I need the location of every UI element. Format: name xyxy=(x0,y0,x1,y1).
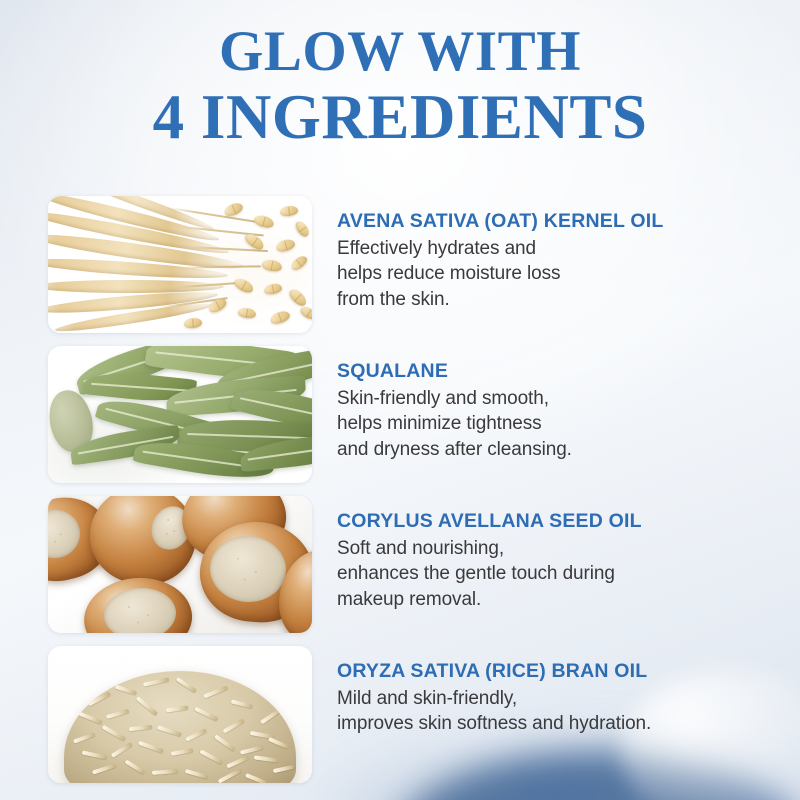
ingredient-row-oat: AVENA SATIVA (OAT) KERNEL OIL Effectivel… xyxy=(0,196,800,346)
ingredient-image-squalane xyxy=(48,346,312,483)
ingredient-name: ORYZA SATIVA (RICE) BRAN OIL xyxy=(337,660,787,683)
hazelnut-illustration xyxy=(48,496,312,633)
ingredient-description: Soft and nourishing, enhances the gentle… xyxy=(337,536,787,612)
ingredient-name: CORYLUS AVELLANA SEED OIL xyxy=(337,510,787,533)
title-line-2: 4 INGREDIENTS xyxy=(0,84,800,151)
ingredient-description: Effectively hydrates and helps reduce mo… xyxy=(337,236,787,312)
page-title: GLOW WITH 4 INGREDIENTS xyxy=(0,22,800,151)
ingredient-description: Skin-friendly and smooth, helps minimize… xyxy=(337,386,787,462)
title-line-1: GLOW WITH xyxy=(0,22,800,82)
ingredient-image-oat xyxy=(48,196,312,333)
ingredient-image-hazelnut xyxy=(48,496,312,633)
ingredient-image-rice xyxy=(48,646,312,783)
ingredient-list: AVENA SATIVA (OAT) KERNEL OIL Effectivel… xyxy=(0,196,800,796)
oat-illustration xyxy=(48,196,312,333)
ingredient-poster: GLOW WITH 4 INGREDIENTS xyxy=(0,0,800,800)
ingredient-name: AVENA SATIVA (OAT) KERNEL OIL xyxy=(337,210,787,233)
ingredient-text-oat: AVENA SATIVA (OAT) KERNEL OIL Effectivel… xyxy=(337,210,787,312)
ingredient-text-squalane: SQUALANE Skin-friendly and smooth, helps… xyxy=(337,360,787,462)
ingredient-row-squalane: SQUALANE Skin-friendly and smooth, helps… xyxy=(0,346,800,496)
rice-illustration xyxy=(48,646,312,783)
ingredient-description: Mild and skin-friendly, improves skin so… xyxy=(337,686,787,737)
rice-pile xyxy=(64,671,296,783)
ingredient-name: SQUALANE xyxy=(337,360,787,383)
leaf-illustration xyxy=(48,346,312,483)
ingredient-row-rice: ORYZA SATIVA (RICE) BRAN OIL Mild and sk… xyxy=(0,646,800,796)
ingredient-text-hazelnut: CORYLUS AVELLANA SEED OIL Soft and nouri… xyxy=(337,510,787,612)
ingredient-row-hazelnut: CORYLUS AVELLANA SEED OIL Soft and nouri… xyxy=(0,496,800,646)
ingredient-text-rice: ORYZA SATIVA (RICE) BRAN OIL Mild and sk… xyxy=(337,660,787,737)
